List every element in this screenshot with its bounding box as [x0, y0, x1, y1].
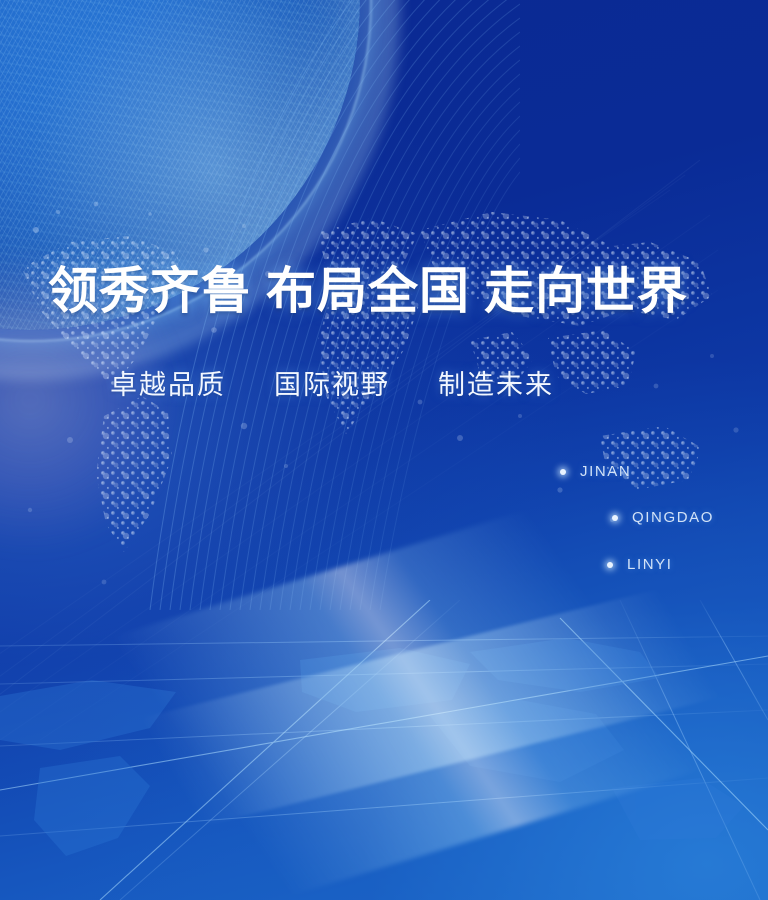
headline-part-1: 领秀齐鲁	[48, 261, 252, 320]
map-marker-label: LINYI	[627, 556, 673, 573]
subtitle-part-2: 国际视野	[274, 370, 390, 401]
marker-dot-icon	[607, 562, 613, 568]
hero-banner: 领秀齐鲁布局全国走向世界 卓越品质国际视野制造未来 JINAN QINGDAO …	[0, 0, 768, 900]
page-title: 领秀齐鲁布局全国走向世界	[48, 266, 688, 316]
map-marker-jinan[interactable]: JINAN	[560, 463, 631, 481]
map-marker-linyi[interactable]: LINYI	[607, 556, 673, 574]
map-marker-label: JINAN	[580, 463, 631, 480]
marker-dot-icon	[560, 469, 566, 475]
page-subtitle: 卓越品质国际视野制造未来	[110, 372, 554, 399]
subtitle-part-1: 卓越品质	[110, 370, 226, 401]
map-marker-qingdao[interactable]: QINGDAO	[612, 509, 714, 527]
headline-part-2: 布局全国	[266, 261, 470, 320]
marker-dot-icon	[612, 515, 618, 521]
subtitle-part-3: 制造未来	[438, 370, 554, 401]
headline-part-3: 走向世界	[484, 261, 688, 320]
map-marker-label: QINGDAO	[632, 509, 714, 526]
